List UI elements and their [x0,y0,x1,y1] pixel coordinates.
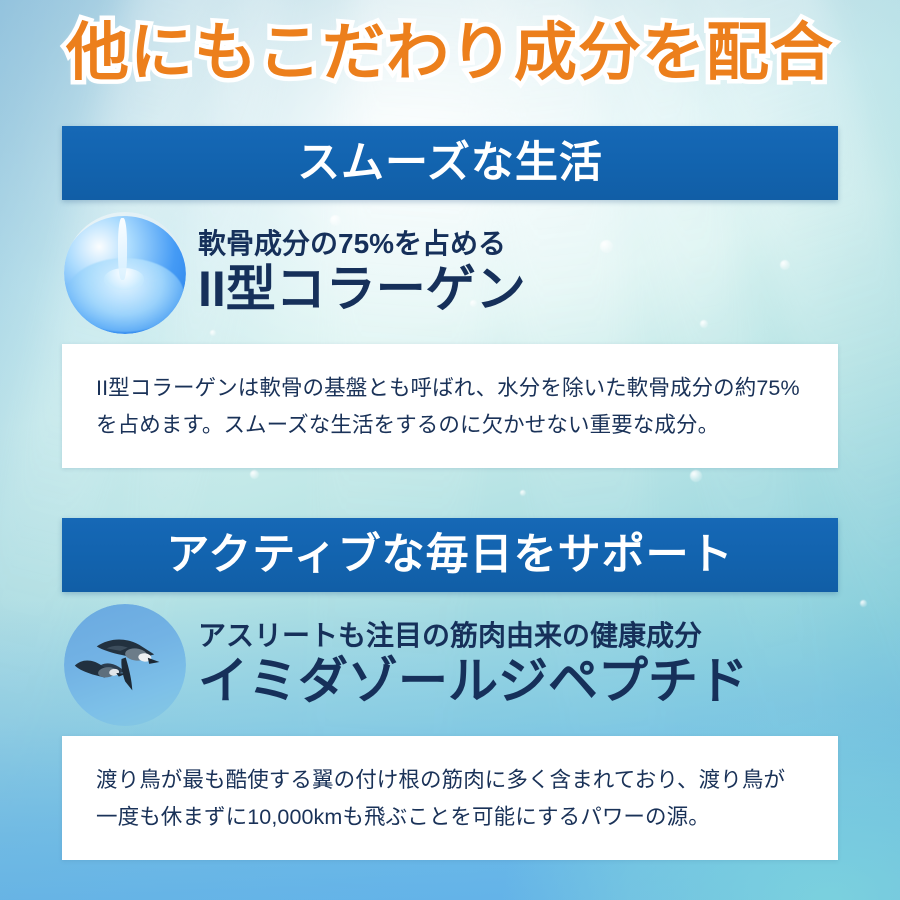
migratory-birds-icon [64,604,186,726]
ingredient-text-2: アスリートも注目の筋肉由来の健康成分 イミダゾールジペプチド [198,621,748,709]
ingredient-subtitle-1: 軟骨成分の75%を占める [198,229,526,259]
section-active-day: アクティブな毎日をサポート [62,518,838,860]
ingredient-name-2: イミダゾールジペプチド [198,653,748,709]
poster-canvas: 他にもこだわり成分を配合 スムーズな生活 軟骨成分の75%を占める II型コラー… [0,0,900,900]
description-text-1: II型コラーゲンは軟骨の基盤とも呼ばれ、水分を除いた軟骨成分の約75%を占めます… [96,370,804,444]
section-band-2: アクティブな毎日をサポート [62,518,838,592]
page-title: 他にもこだわり成分を配合 [0,22,900,85]
section-band-label-2: アクティブな毎日をサポート [166,534,733,577]
description-text-2: 渡り鳥が最も酷使する翼の付け根の筋肉に多く含まれており、渡り鳥が一度も休まずに1… [96,762,804,836]
description-box-2: 渡り鳥が最も酷使する翼の付け根の筋肉に多く含まれており、渡り鳥が一度も休まずに1… [62,736,838,860]
section-band-1: スムーズな生活 [62,126,838,200]
ingredient-text-1: 軟骨成分の75%を占める II型コラーゲン [198,229,526,317]
ingredient-row-1: 軟骨成分の75%を占める II型コラーゲン [62,212,838,334]
ingredient-row-2: アスリートも注目の筋肉由来の健康成分 イミダゾールジペプチド [62,604,838,726]
description-box-1: II型コラーゲンは軟骨の基盤とも呼ばれ、水分を除いた軟骨成分の約75%を占めます… [62,344,838,468]
section-smooth-life: スムーズな生活 軟骨成分の75%を占める II型コラーゲン II型コラーゲンは軟… [62,126,838,468]
ingredient-subtitle-2: アスリートも注目の筋肉由来の健康成分 [198,621,748,651]
ingredient-name-1: II型コラーゲン [198,261,526,317]
section-band-label-1: スムーズな生活 [297,142,603,185]
water-droplet-icon [64,212,186,334]
